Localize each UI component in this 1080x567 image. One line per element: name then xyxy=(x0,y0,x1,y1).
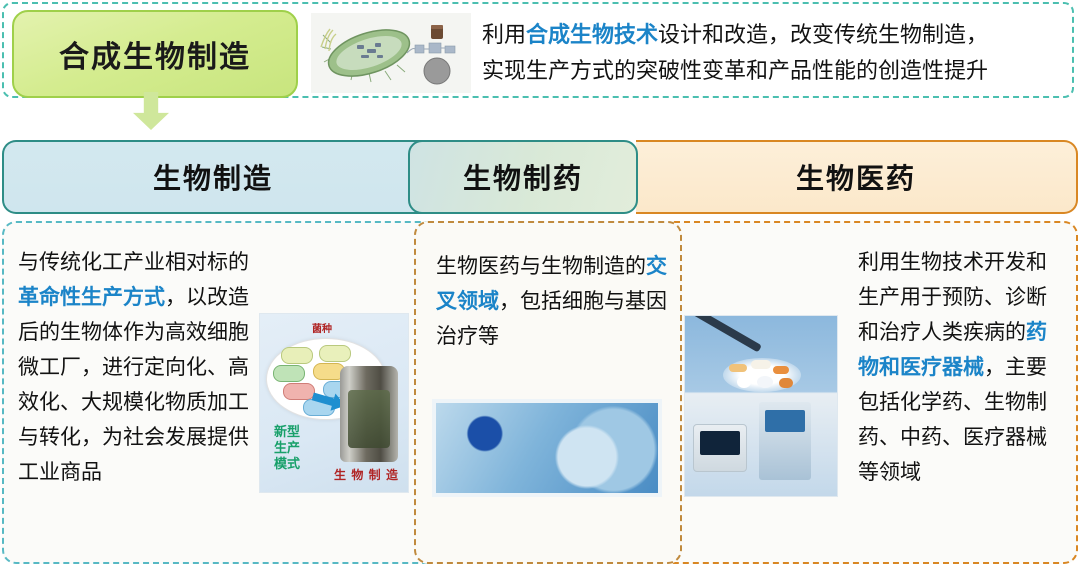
header-description: 利用合成生物技术设计和改造，改变传统生物制造， 实现生产方式的突破性变革和产品性… xyxy=(482,13,1074,93)
infographic-root: 合成生物制造 xyxy=(0,0,1080,567)
medical-devices-and-pills-photo xyxy=(684,315,838,497)
panel-biomanufacturing: 与传统化工产业相对标的革命性生产方式，以改造后的生物体作为高效细胞微工厂，进行定… xyxy=(2,221,472,564)
panel-left-text-highlight: 革命性生产方式 xyxy=(18,286,165,309)
robotic-arm xyxy=(692,315,762,352)
strain-label: 菌种 xyxy=(312,324,332,336)
panel-biopharma: 生物医药与生物制造的交叉领域，包括细胞与基因治疗等 xyxy=(414,221,682,564)
panel-right-text: 利用生物技术开发和生产用于预防、诊断和治疗人类疾病的药物和医疗器械，主要包括化学… xyxy=(858,245,1064,490)
bio-manufacturing-fermenter-illustration: 菌种 新型 生产 模式 生 物 制 造 xyxy=(259,313,409,493)
header-desc-prefix: 利用 xyxy=(482,22,526,47)
mode-label-line2: 生产 xyxy=(274,440,300,456)
tab-biomedicine-label: 生物医药 xyxy=(796,157,916,197)
new-production-mode-label: 新型 生产 模式 xyxy=(274,424,300,472)
tab-biomanufacturing-label: 生物制造 xyxy=(153,157,273,197)
cell-molecule-blue-photo xyxy=(432,399,662,497)
fermenter-tank xyxy=(340,366,398,462)
panel-biomedicine: 利用生物技术开发和生产用于预防、诊断和治疗人类疾病的药物和医疗器械，主要包括化学… xyxy=(660,221,1078,564)
panel-mid-text: 生物医药与生物制造的交叉领域，包括细胞与基因治疗等 xyxy=(436,249,668,354)
tab-biomedicine[interactable]: 生物医药 xyxy=(636,140,1078,214)
panel-right-text-part1: 利用生物技术开发和生产用于预防、诊断和治疗人类疾病的 xyxy=(858,251,1047,344)
header-description-line1: 利用合成生物技术设计和改造，改变传统生物制造， xyxy=(482,17,1074,53)
tab-biopharma-label: 生物制药 xyxy=(463,157,583,197)
patient-monitor xyxy=(693,424,747,472)
fermenter-liquid xyxy=(348,390,390,448)
title-box: 合成生物制造 xyxy=(12,10,298,98)
synthetic-cell-diagram-icon xyxy=(311,13,471,93)
mode-label-line1: 新型 xyxy=(274,424,300,440)
pills-cluster xyxy=(723,358,801,392)
machine-panel xyxy=(765,410,805,432)
mode-label-line3: 模式 xyxy=(274,456,300,472)
panel-left-text-part1: 与传统化工产业相对标的 xyxy=(18,251,249,274)
panel-mid-text-part1: 生物医药与生物制造的 xyxy=(436,255,646,278)
monitor-screen xyxy=(700,431,740,455)
header-desc-highlight: 合成生物技术 xyxy=(526,22,658,47)
panel-left-text-part2: ，以改造后的生物体作为高效细胞微工厂，进行定向化、高效化、大规模化物质加工与转化… xyxy=(18,286,249,484)
category-tabs: 生物制造 生物医药 生物制药 xyxy=(0,140,1080,214)
tab-biopharma[interactable]: 生物制药 xyxy=(408,140,638,214)
tab-biomanufacturing[interactable]: 生物制造 xyxy=(2,140,422,214)
page-title: 合成生物制造 xyxy=(59,32,251,76)
medical-machine xyxy=(759,402,811,480)
bio-manufacturing-label: 生 物 制 造 xyxy=(334,469,399,481)
header-band: 合成生物制造 xyxy=(2,2,1074,98)
panel-left-text: 与传统化工产业相对标的革命性生产方式，以改造后的生物体作为高效细胞微工厂，进行定… xyxy=(18,245,254,490)
cell-molecule-image-inner xyxy=(436,403,658,493)
cell-diagram-svg xyxy=(311,13,471,93)
header-description-line2: 实现生产方式的突破性变革和产品性能的创造性提升 xyxy=(482,53,1074,89)
header-desc-suffix: 设计和改造，改变传统生物制造， xyxy=(658,22,988,47)
